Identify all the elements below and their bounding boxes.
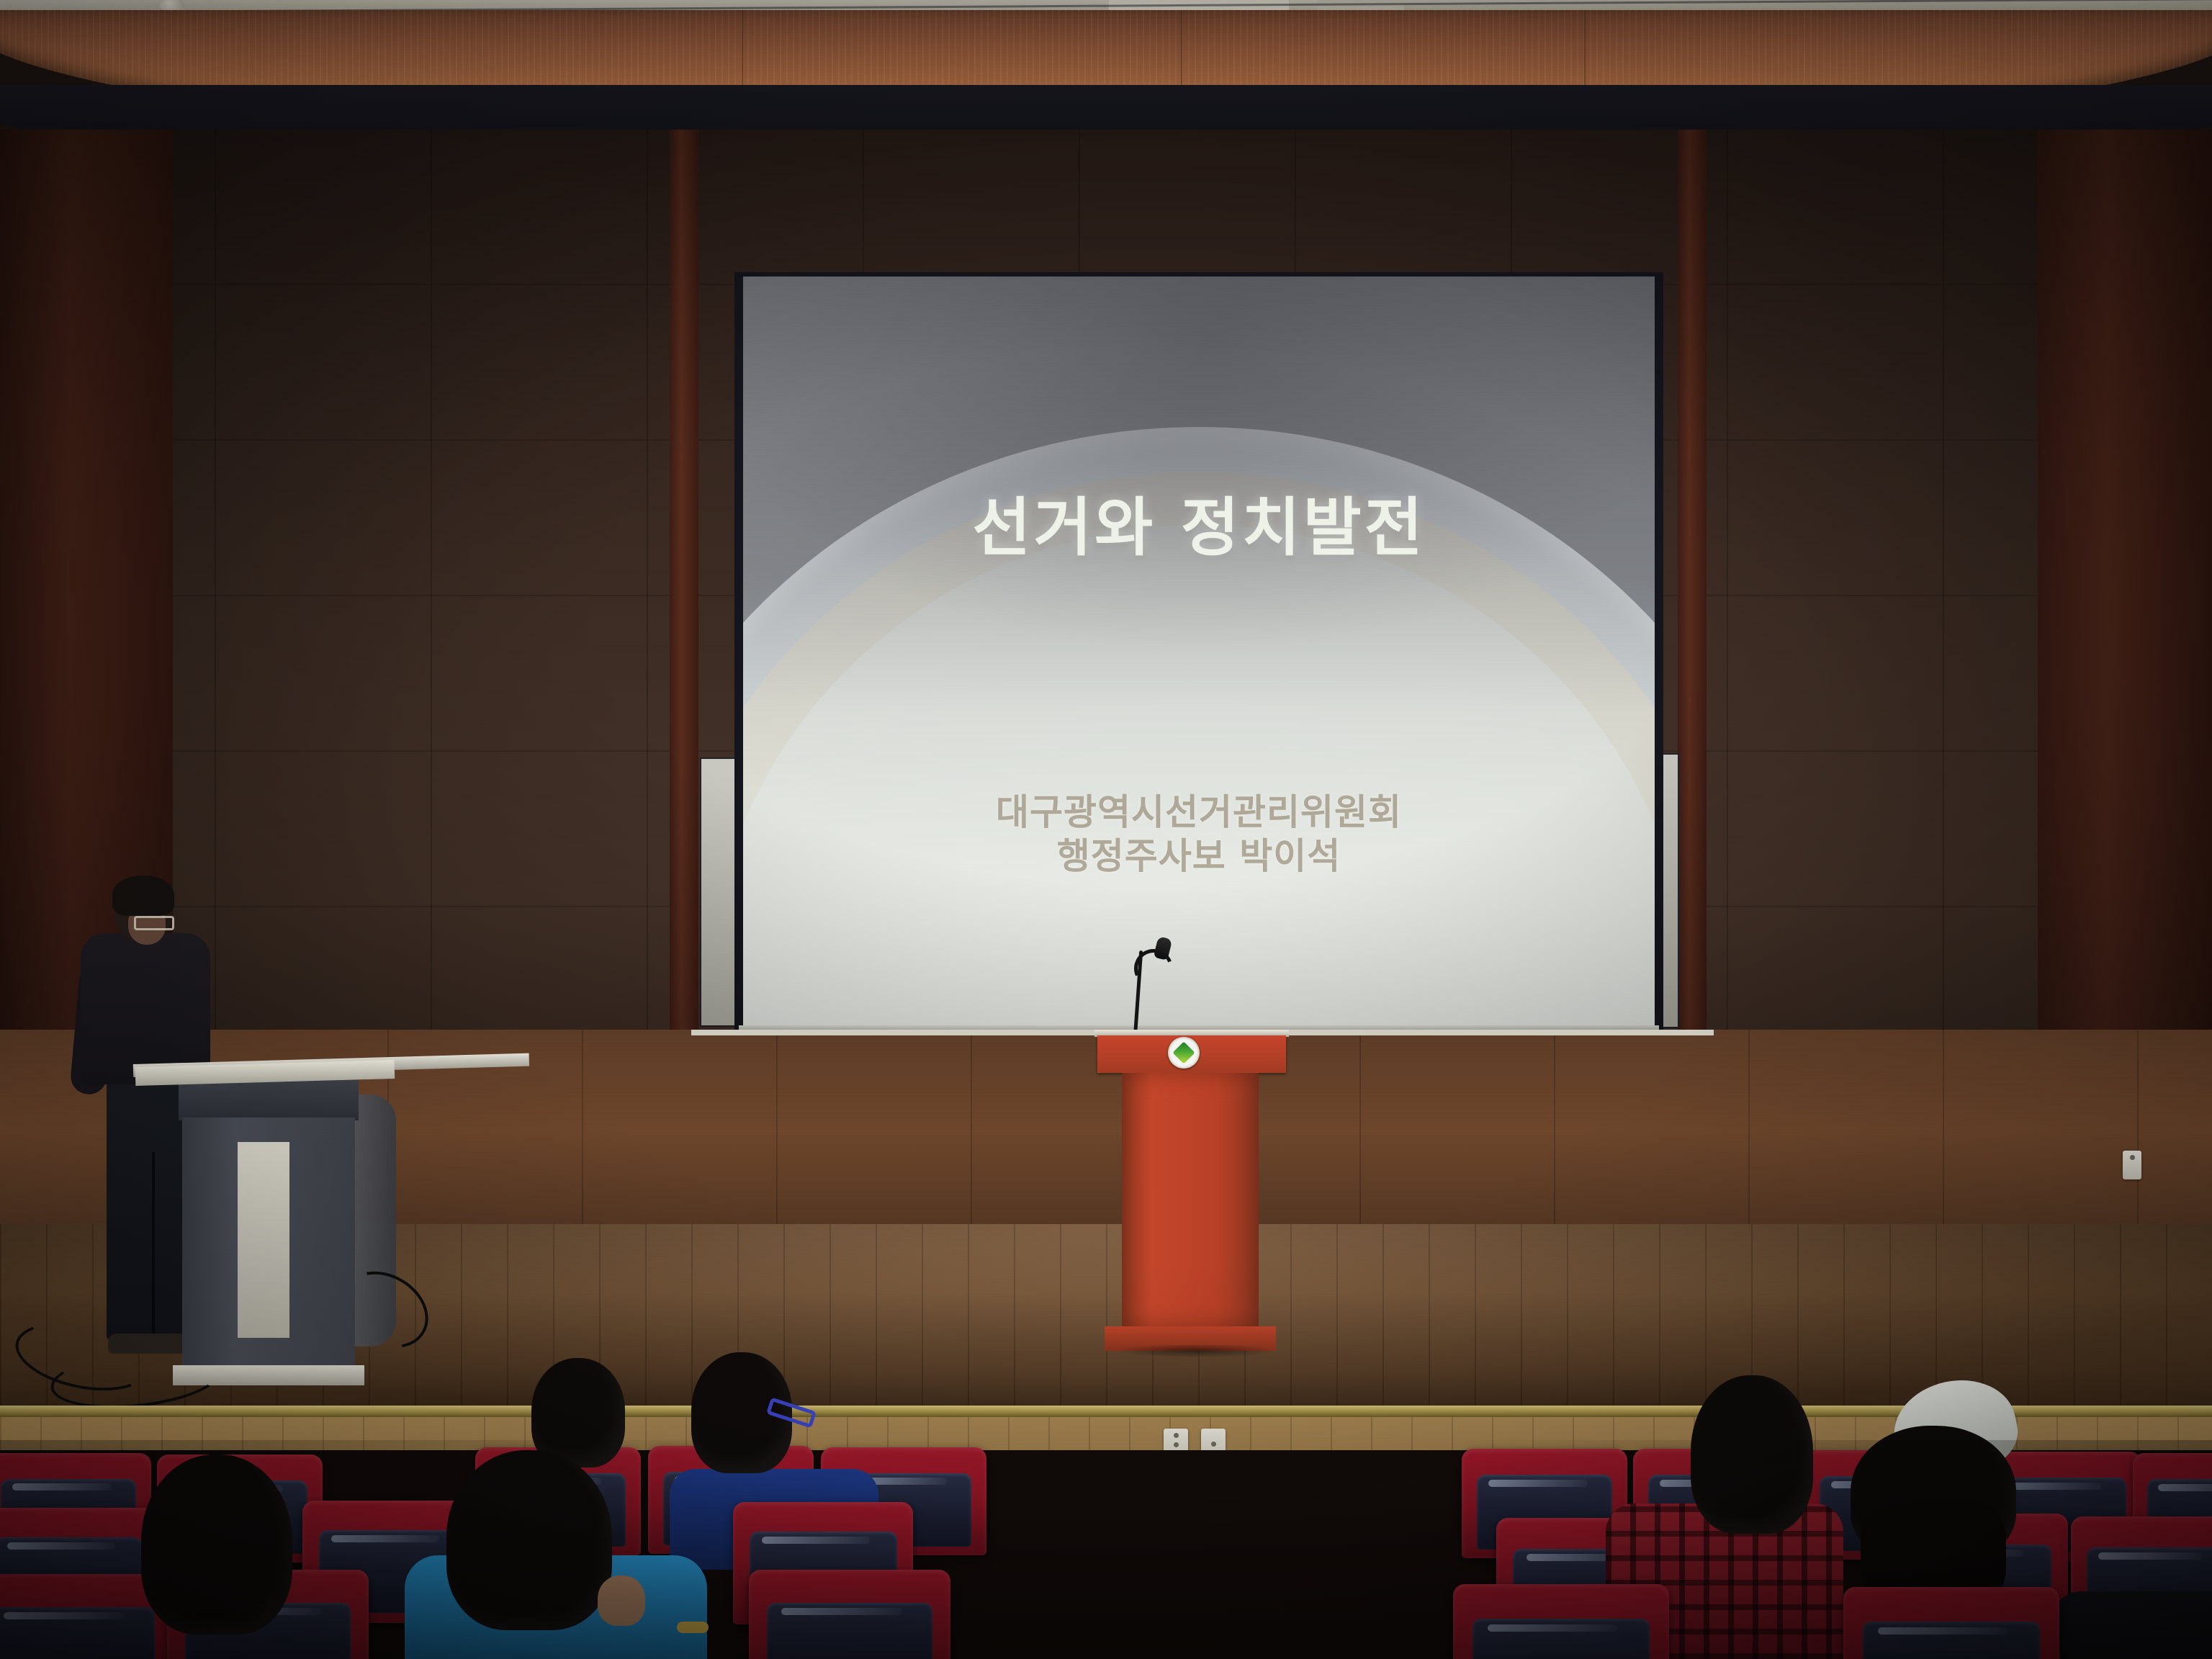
seat-gloss [2158,1484,2212,1491]
lectern-column [1122,1073,1259,1326]
glasses-icon [134,916,174,930]
jack-hole-icon [1211,1442,1216,1447]
seat-gloss [2098,1552,2202,1560]
lectern-emblem-icon [1168,1037,1200,1069]
av-console-panel-insert [238,1142,289,1338]
slide-title: 선거와 정치발전 [743,477,1655,568]
seat-gloss [781,1608,902,1615]
list-item [141,1455,292,1635]
seat[interactable] [1453,1584,1669,1659]
lectern-shadow [1087,1345,1303,1364]
seat-gloss [4,1612,125,1619]
projection-screen: 선거와 정치발전 대구광역시선거관리위원회 행정주사보 박이석 [743,276,1655,1030]
seat-gloss [1488,1624,1617,1632]
slide-subtitle-line1: 대구광역시선거관리위원회 [996,791,1402,833]
presenter-leg-split [152,1152,155,1338]
outlet-hole-icon [2130,1155,2135,1160]
seat-gloss [331,1535,439,1542]
seat-gloss [1488,1480,1588,1487]
audience-hand [598,1575,645,1626]
auditorium-photo: 선거와 정치발전 대구광역시선거관리위원회 행정주사보 박이석 [0,0,2212,1659]
emblem-diamond-mark [1172,1041,1195,1064]
seat-gloss [12,1483,112,1491]
presenter-torso [81,933,210,1084]
seat[interactable] [1843,1587,2059,1659]
outlet-hole-icon-bottom [1174,1442,1179,1447]
power-outlet-plate-right-wall [2123,1151,2141,1179]
list-item [1691,1375,1813,1534]
slide-subtitle: 대구광역시선거관리위원회 행정주사보 박이석 [743,792,1655,877]
presenter-hair [112,876,174,916]
seat-gloss [7,1542,115,1550]
outlet-hole-icon-top [1174,1433,1179,1438]
stage-apron-nosing [0,1406,2212,1417]
av-console-upper-band [179,1080,359,1120]
audience-shoulders [2052,1591,2212,1659]
audience-hair [1691,1375,1813,1534]
slide-subtitle-line2: 행정주사보 박이석 [743,836,1655,877]
audience-hair [141,1455,292,1635]
list-item [1851,1426,2016,1563]
audience-wristband [677,1622,709,1633]
seat-gloss [2002,1483,2102,1490]
seat[interactable] [749,1570,950,1659]
audience-hair [446,1450,612,1630]
seat-gloss [762,1537,870,1544]
seat-gloss [1878,1627,2008,1635]
list-item [446,1450,612,1630]
